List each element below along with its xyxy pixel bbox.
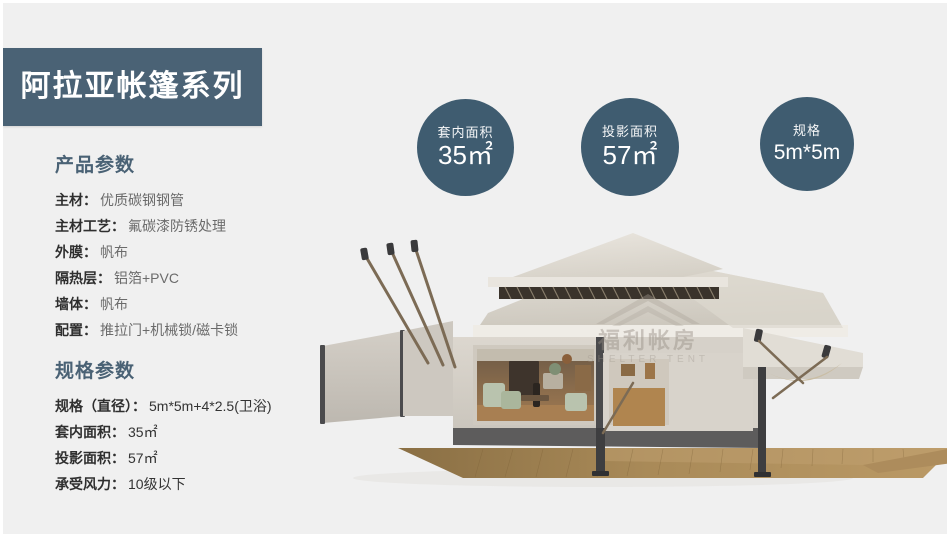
spec-label: 套内面积： (55, 424, 125, 440)
spec-value: 57㎡ (128, 450, 158, 466)
page-canvas: 阿拉亚帐篷系列 产品参数 主材：优质碳钢钢管 主材工艺：氟碳漆防锈处理 外膜：帆… (0, 0, 950, 534)
badge-value: 5m*5m (774, 142, 841, 164)
support-post-right (758, 367, 766, 475)
roof-vent-slats (499, 287, 719, 299)
corner-post-center (596, 337, 604, 443)
param-value: 帆布 (100, 244, 128, 260)
param-value: 帆布 (100, 296, 128, 312)
right-room-chair (645, 363, 655, 379)
spec-label: 规格（直径）： (55, 398, 146, 414)
side-wing-panel (323, 331, 403, 423)
spec-value: 5m*5m+4*2.5(卫浴) (149, 398, 272, 414)
post-base-right (754, 472, 771, 477)
right-room-box (621, 364, 635, 376)
spec-label: 承受风力： (55, 476, 125, 492)
tent-illustration: 福利帐房 SHELTER TENT (303, 233, 950, 523)
param-label: 隔热层： (55, 270, 111, 286)
param-value: 推拉门+机械锁/磁卡锁 (100, 322, 238, 338)
spec-value: 35㎡ (128, 424, 158, 440)
upper-roof-fascia (488, 277, 728, 287)
support-post-center (596, 428, 605, 474)
badge-value: 57㎡ (603, 142, 658, 169)
param-value: 铝箔+PVC (114, 270, 179, 286)
spec-value: 10级以下 (128, 476, 186, 492)
badge-value: 35㎡ (438, 142, 493, 169)
badge-projected-area: 投影面积 57㎡ (581, 98, 679, 196)
param-label: 外膜： (55, 244, 97, 260)
post-base-center (592, 471, 609, 476)
badge-group: 套内面积 35㎡ 投影面积 57㎡ 规格 5m*5m (3, 3, 950, 203)
badge-label: 套内面积 (437, 126, 493, 140)
badge-label: 投影面积 (602, 125, 658, 139)
param-label: 主材工艺： (55, 218, 125, 234)
tent-render-svg (303, 233, 950, 523)
right-room-cabinet (613, 388, 665, 426)
badge-interior-area: 套内面积 35㎡ (417, 99, 514, 196)
badge-label: 规格 (793, 124, 821, 138)
interior-header-beam (477, 349, 594, 361)
param-value: 氟碳漆防锈处理 (128, 218, 226, 234)
spec-label: 投影面积： (55, 450, 125, 466)
param-label: 配置： (55, 322, 97, 338)
param-label: 墙体： (55, 296, 97, 312)
badge-dimension: 规格 5m*5m (760, 97, 854, 191)
wing-post-left (320, 345, 325, 424)
